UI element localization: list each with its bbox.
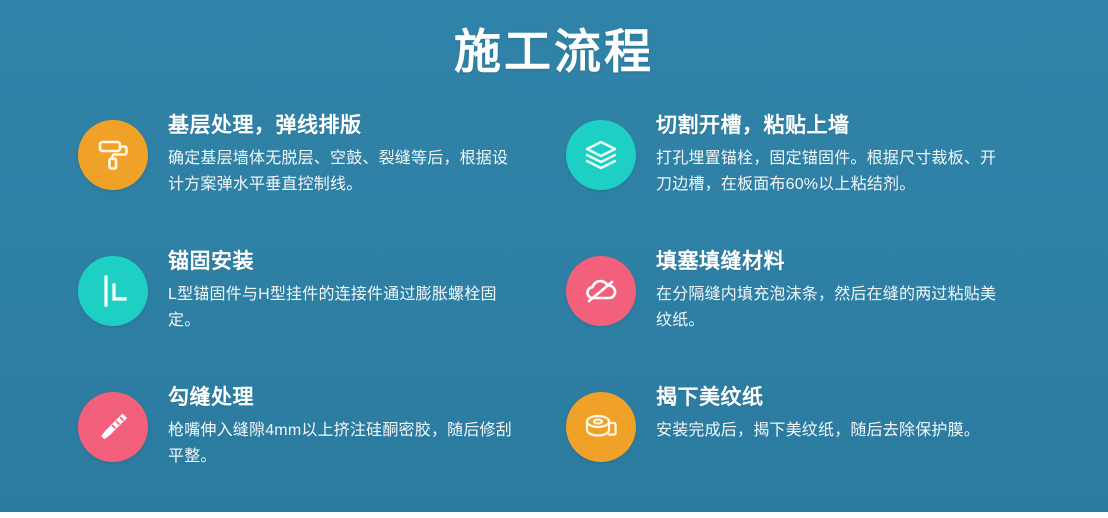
step-item: 基层处理，弹线排版 确定基层墙体无脱层、空鼓、裂缝等后，根据设计方案弹水平垂直控… (78, 108, 550, 226)
step-item: 切割开槽，粘贴上墙 打孔埋置锚栓，固定锚固件。根据尺寸裁板、开刀边槽，在板面布6… (566, 108, 1038, 226)
step-icon-badge (78, 256, 148, 326)
step-body: 枪嘴伸入缝隙4mm以上挤注硅酮密胶，随后修刮平整。 (168, 418, 513, 470)
layers-icon (581, 135, 621, 175)
step-body: 安装完成后，揭下美纹纸，随后去除保护膜。 (656, 418, 1001, 444)
step-title: 填塞填缝材料 (656, 248, 1038, 275)
step-title: 切割开槽，粘贴上墙 (656, 112, 1038, 139)
bottom-white-strip (0, 512, 1108, 518)
step-icon-badge (78, 392, 148, 462)
step-body: L型锚固件与H型挂件的连接件通过膨胀螺栓固定。 (168, 282, 513, 334)
step-text: 锚固安装 L型锚固件与H型挂件的连接件通过膨胀螺栓固定。 (168, 244, 550, 334)
steps-grid: 基层处理，弹线排版 确定基层墙体无脱层、空鼓、裂缝等后，根据设计方案弹水平垂直控… (78, 108, 1038, 498)
step-text: 切割开槽，粘贴上墙 打孔埋置锚栓，固定锚固件。根据尺寸裁板、开刀边槽，在板面布6… (656, 108, 1038, 198)
step-item: 勾缝处理 枪嘴伸入缝隙4mm以上挤注硅酮密胶，随后修刮平整。 (78, 380, 550, 498)
step-title: 勾缝处理 (168, 384, 550, 411)
step-text: 揭下美纹纸 安装完成后，揭下美纹纸，随后去除保护膜。 (656, 380, 1038, 444)
step-text: 基层处理，弹线排版 确定基层墙体无脱层、空鼓、裂缝等后，根据设计方案弹水平垂直控… (168, 108, 550, 198)
paint-roller-icon (93, 135, 133, 175)
step-icon-badge (566, 120, 636, 190)
step-icon-badge (566, 392, 636, 462)
step-title: 揭下美纹纸 (656, 384, 1038, 411)
l-bracket-icon (93, 271, 133, 311)
step-icon-badge (566, 256, 636, 326)
step-icon-badge (78, 120, 148, 190)
step-item: 填塞填缝材料 在分隔缝内填充泡沫条，然后在缝的两过粘贴美纹纸。 (566, 244, 1038, 362)
construction-process-poster: 施工流程 基层处理，弹线排版 确定基层墙体无脱层、空鼓、裂缝等后，根据设计方案弹… (0, 0, 1108, 518)
page-title: 施工流程 (0, 24, 1108, 80)
step-title: 基层处理，弹线排版 (168, 112, 550, 139)
caulk-syringe-icon (93, 407, 133, 447)
step-body: 在分隔缝内填充泡沫条，然后在缝的两过粘贴美纹纸。 (656, 282, 1001, 334)
step-title: 锚固安装 (168, 248, 550, 275)
step-text: 勾缝处理 枪嘴伸入缝隙4mm以上挤注硅酮密胶，随后修刮平整。 (168, 380, 550, 470)
step-body: 打孔埋置锚栓，固定锚固件。根据尺寸裁板、开刀边槽，在板面布60%以上粘结剂。 (656, 146, 1001, 198)
step-item: 锚固安装 L型锚固件与H型挂件的连接件通过膨胀螺栓固定。 (78, 244, 550, 362)
cloud-slash-icon (581, 271, 621, 311)
step-body: 确定基层墙体无脱层、空鼓、裂缝等后，根据设计方案弹水平垂直控制线。 (168, 146, 513, 198)
tape-roll-icon (580, 406, 622, 448)
step-item: 揭下美纹纸 安装完成后，揭下美纹纸，随后去除保护膜。 (566, 380, 1038, 498)
step-text: 填塞填缝材料 在分隔缝内填充泡沫条，然后在缝的两过粘贴美纹纸。 (656, 244, 1038, 334)
